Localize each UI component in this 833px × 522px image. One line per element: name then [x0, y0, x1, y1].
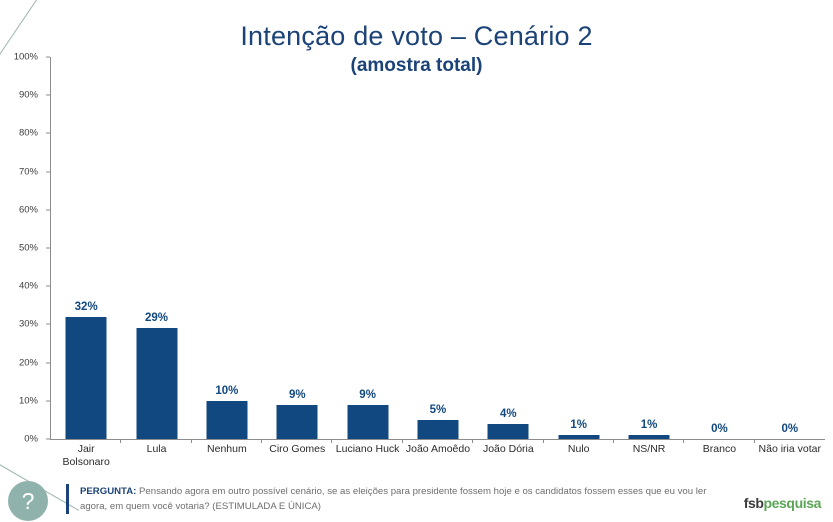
category-label-line: Não iria votar — [756, 443, 824, 456]
bar-slot[interactable]: 29% — [121, 57, 191, 439]
x-axis-category-label: JairBolsonaro — [51, 443, 121, 469]
y-axis-tick-label: 40% — [19, 281, 38, 292]
bar-series: 32%29%10%9%9%5%4%1%1%0%0% — [51, 57, 825, 439]
bar-slot[interactable]: 9% — [332, 57, 402, 439]
bar-value-label: 0% — [711, 423, 728, 435]
y-axis-tick-label: 10% — [19, 395, 38, 406]
category-label-line: Luciano Huck — [333, 443, 401, 456]
bar-value-label: 0% — [781, 423, 798, 435]
chart-plot-area: 0%10%20%30%40%50%60%70%80%90%100% 32%29%… — [0, 57, 833, 439]
bar[interactable] — [558, 435, 599, 439]
y-axis-tick-label: 50% — [19, 243, 38, 254]
x-axis-category-label: João Amoêdo — [403, 443, 473, 469]
bar-value-label: 32% — [75, 301, 98, 313]
bar-slot[interactable]: 5% — [403, 57, 473, 439]
bar[interactable] — [629, 435, 670, 439]
chart-title: Intenção de voto – Cenário 2 — [0, 22, 833, 50]
y-axis-tick-label: 80% — [19, 128, 38, 139]
question-footnote: PERGUNTA: Pensando agora em outro possív… — [80, 484, 710, 514]
bar-value-label: 1% — [570, 419, 587, 431]
bar-value-label: 10% — [215, 385, 238, 397]
category-label-line: NS/NR — [615, 443, 683, 456]
bar-value-label: 29% — [145, 312, 168, 324]
x-axis-category-labels: JairBolsonaroLulaNenhumCiro GomesLuciano… — [51, 443, 825, 469]
bar-value-label: 1% — [641, 419, 658, 431]
y-axis-tick-label: 30% — [19, 319, 38, 330]
x-axis-category-label: NS/NR — [614, 443, 684, 469]
bar-value-label: 9% — [289, 389, 306, 401]
bar-slot[interactable]: 10% — [192, 57, 262, 439]
bar[interactable] — [347, 405, 388, 439]
fsb-pesquisa-logo: fsbpesquisa — [744, 495, 821, 511]
y-axis-tick-label: 60% — [19, 204, 38, 215]
bar-value-label: 5% — [430, 404, 447, 416]
bar-slot[interactable]: 0% — [755, 57, 825, 439]
x-axis-category-label: Não iria votar — [755, 443, 825, 469]
x-axis-category-label: Ciro Gomes — [262, 443, 332, 469]
bar[interactable] — [136, 328, 177, 439]
category-label-line: João Dória — [474, 443, 542, 456]
x-axis-category-label: Nulo — [544, 443, 614, 469]
category-label-line: Ciro Gomes — [263, 443, 331, 456]
question-footnote-text: Pensando agora em outro possível cenário… — [80, 486, 706, 512]
y-axis: 0%10%20%30%40%50%60%70%80%90%100% — [0, 57, 46, 439]
bar[interactable] — [417, 420, 458, 439]
x-axis-category-label: Nenhum — [192, 443, 262, 469]
bar[interactable] — [277, 405, 318, 439]
category-label-line: Bolsonaro — [52, 456, 120, 469]
question-mark-icon: ? — [8, 481, 48, 521]
category-label-line: Lula — [122, 443, 190, 456]
bar-slot[interactable]: 0% — [684, 57, 754, 439]
bar-value-label: 9% — [359, 389, 376, 401]
x-axis-category-label: Branco — [684, 443, 754, 469]
footer-accent-rule — [66, 484, 69, 514]
bar-slot[interactable]: 32% — [51, 57, 121, 439]
x-axis-category-label: Luciano Huck — [332, 443, 402, 469]
category-label-line: João Amoêdo — [404, 443, 472, 456]
y-axis-tick-label: 20% — [19, 357, 38, 368]
y-axis-tick-label: 0% — [24, 434, 38, 445]
category-label-line: Nulo — [545, 443, 613, 456]
bar-value-label: 4% — [500, 408, 517, 420]
x-axis-line — [50, 439, 825, 440]
bar-slot[interactable]: 1% — [614, 57, 684, 439]
bar-slot[interactable]: 4% — [473, 57, 543, 439]
bar[interactable] — [206, 401, 247, 439]
y-axis-tick-label: 70% — [19, 166, 38, 177]
logo-fsb: fsb — [744, 495, 764, 511]
question-footnote-label: PERGUNTA: — [80, 486, 136, 497]
bar[interactable] — [66, 317, 107, 439]
x-axis-category-label: João Dória — [473, 443, 543, 469]
logo-pesquisa: pesquisa — [764, 495, 822, 511]
y-axis-tick-label: 90% — [19, 90, 38, 101]
bar[interactable] — [488, 424, 529, 439]
x-axis-category-label: Lula — [121, 443, 191, 469]
bar-slot[interactable]: 1% — [544, 57, 614, 439]
category-label-line: Jair — [52, 443, 120, 456]
category-label-line: Nenhum — [193, 443, 261, 456]
y-axis-tick-label: 100% — [14, 52, 38, 63]
bar-slot[interactable]: 9% — [262, 57, 332, 439]
category-label-line: Branco — [685, 443, 753, 456]
